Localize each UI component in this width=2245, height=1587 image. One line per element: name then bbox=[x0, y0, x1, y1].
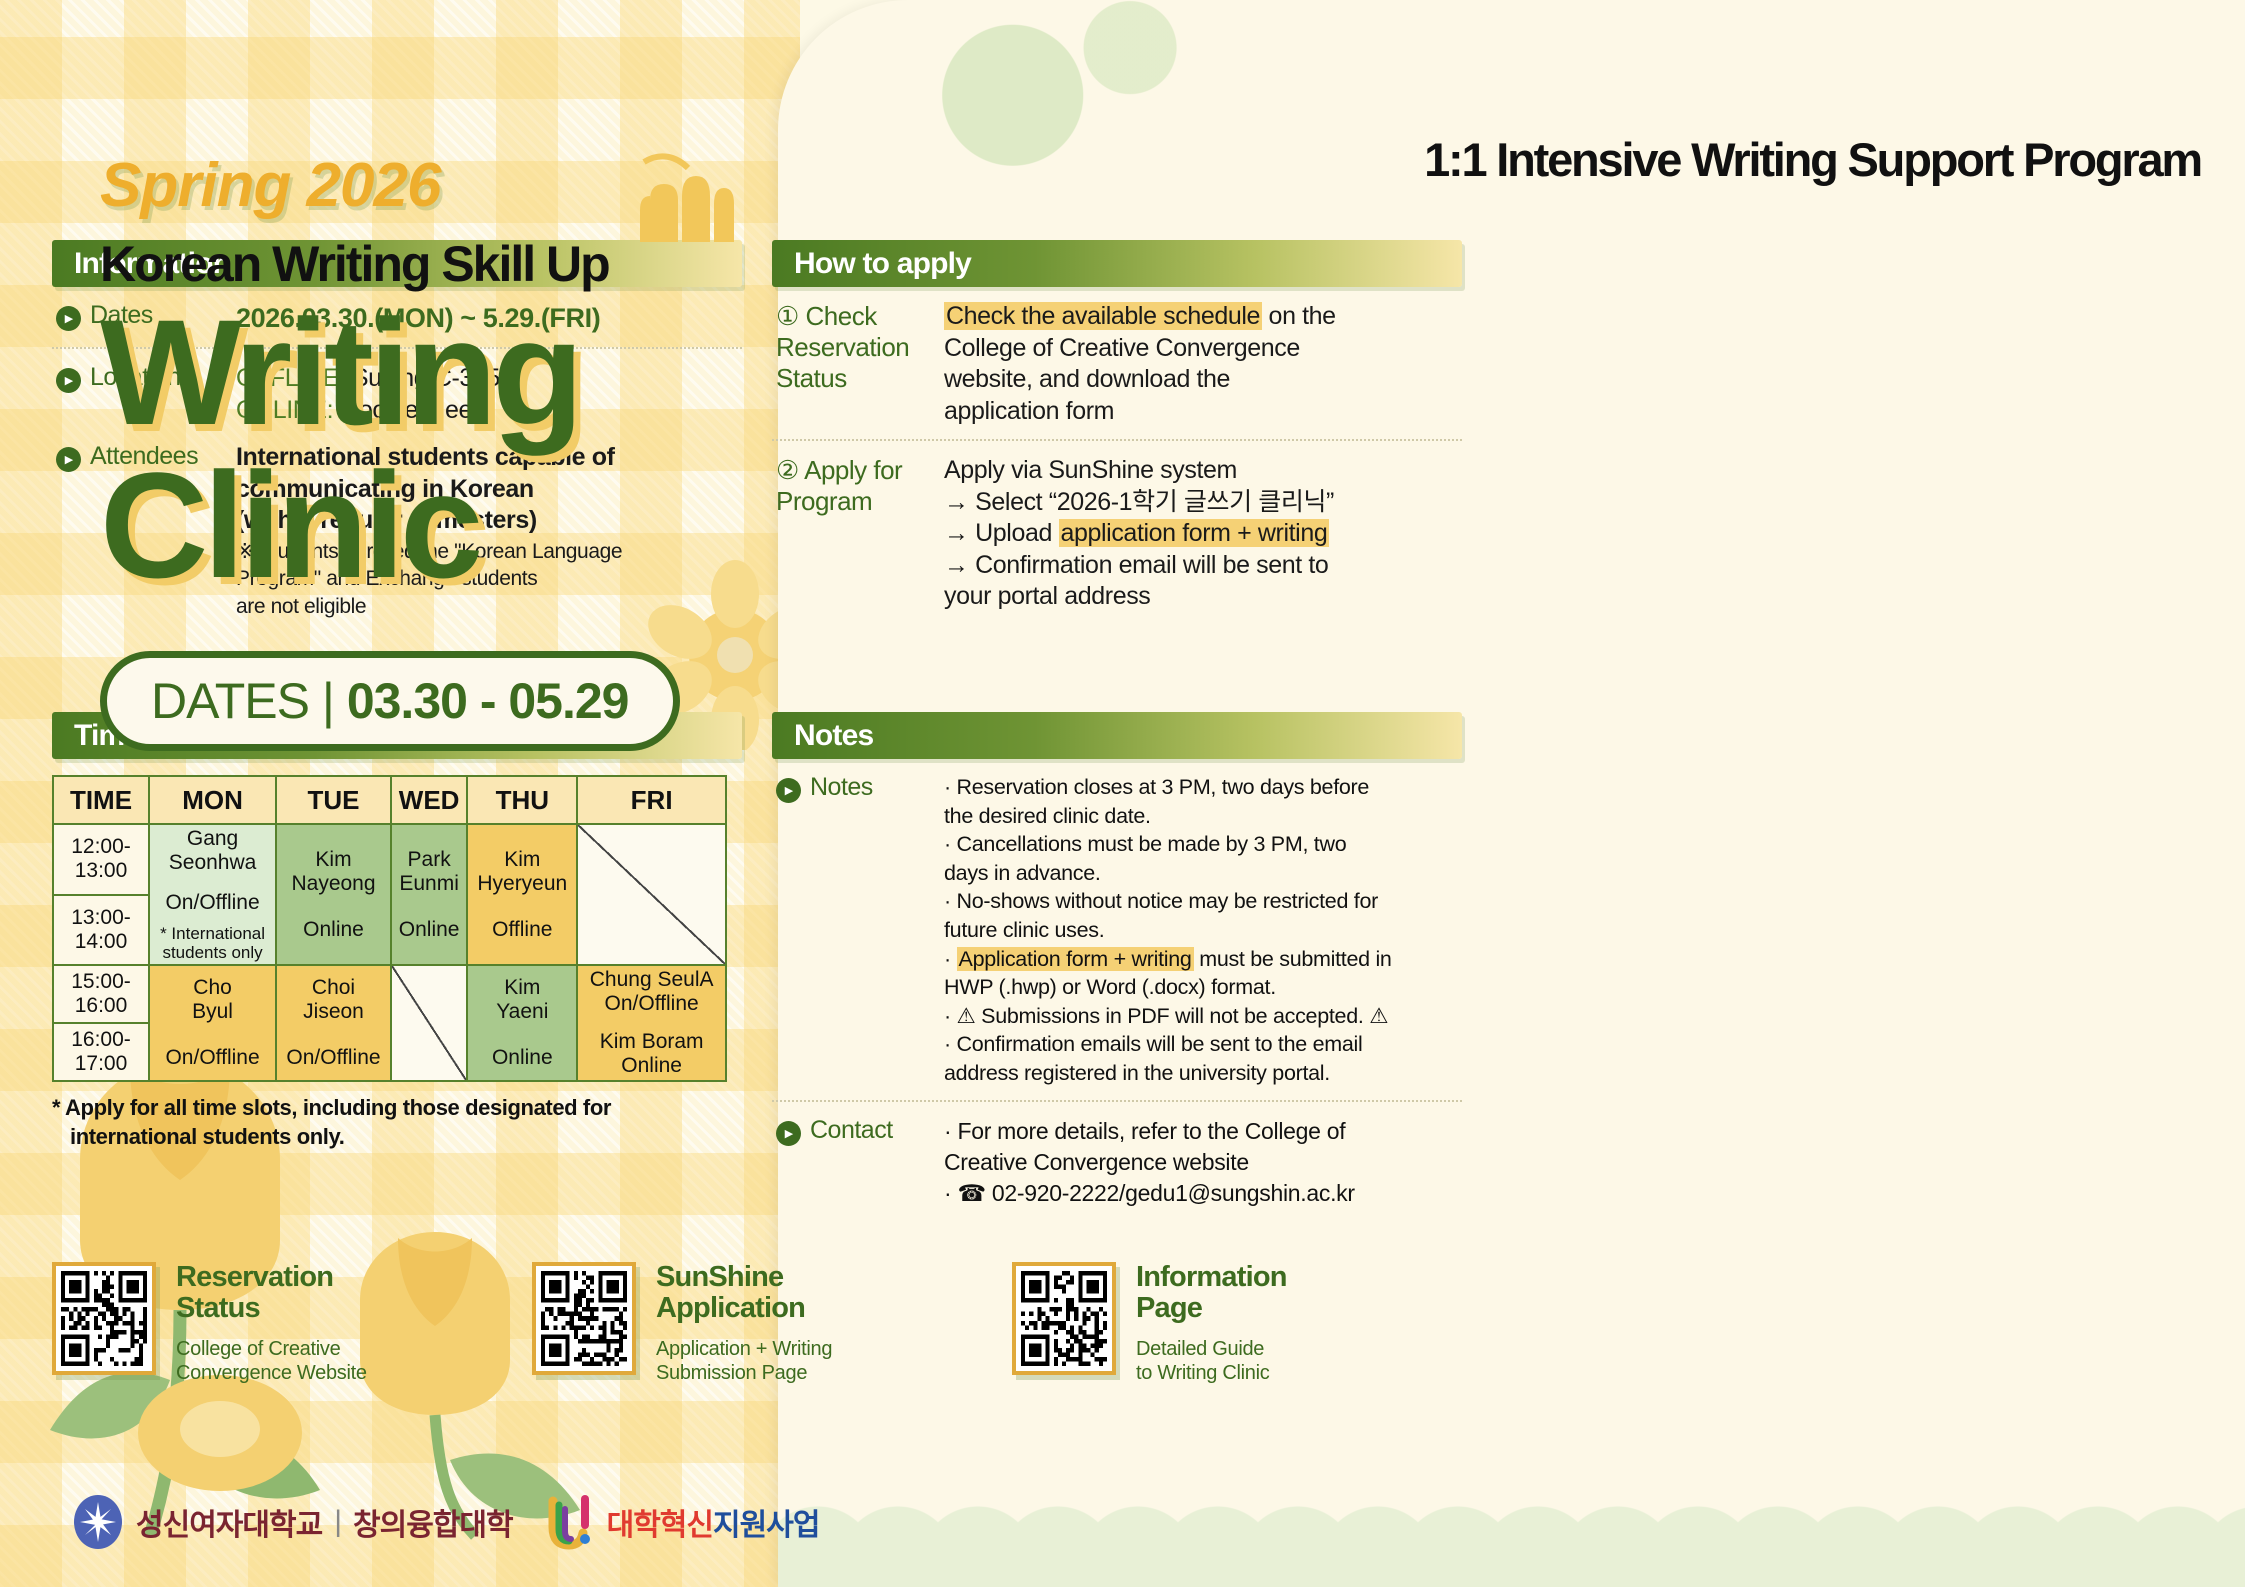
cell-fri-slot2-mode1: On/Offline bbox=[580, 992, 723, 1016]
cell-thu-slot2-mode: Online bbox=[470, 1046, 574, 1070]
apply-step-2-line2: → Select “2026-1학기 글쓰기 클리닉” bbox=[944, 487, 1334, 519]
apply-step-1-line4: application form bbox=[944, 396, 1336, 428]
note-item: future clinic uses. bbox=[944, 916, 1392, 945]
cell-thu-slot1-name2: Hyeryeun bbox=[470, 872, 574, 896]
cell-wed-slot2-empty bbox=[391, 965, 467, 1081]
logo-divider: | bbox=[334, 1505, 341, 1539]
cell-tue-slot2-name2: Jiseon bbox=[279, 1000, 388, 1024]
program-title: 1:1 Intensive Writing Support Program bbox=[1424, 132, 2201, 187]
cell-tue-slot1-mode: Online bbox=[279, 918, 388, 942]
notes-section-header: Notes bbox=[772, 712, 1462, 759]
timetable-footnote-line2: international students only. bbox=[52, 1123, 742, 1152]
table-row: 12:00-13:00 Gang Seonhwa On/Offline * In… bbox=[53, 824, 726, 895]
how-to-apply-heading: How to apply bbox=[794, 247, 971, 281]
timetable-footnote: * Apply for all time slots, including th… bbox=[52, 1094, 742, 1151]
qr-code-sunshine-application[interactable] bbox=[532, 1262, 636, 1375]
note-item: address registered in the university por… bbox=[944, 1059, 1392, 1088]
timetable-col-time: TIME bbox=[53, 776, 149, 824]
innovation-program-name: 대학혁신지원사업 bbox=[607, 1500, 820, 1544]
timeslot-1200-1300: 12:00-13:00 bbox=[53, 824, 149, 895]
timetable-header-row: TIME MON TUE WED THU FRI bbox=[53, 776, 726, 824]
poster-main-word-2: Clinic bbox=[100, 452, 780, 599]
chevron-right-icon: ▸ bbox=[56, 447, 81, 472]
timetable-table: TIME MON TUE WED THU FRI 12:00-13:00 Gan… bbox=[52, 775, 727, 1082]
qr-sub-line1: Application + Writing bbox=[656, 1337, 832, 1361]
innovation-name-part1: 대학혁신 bbox=[607, 1509, 713, 1542]
qr-title-line1: Reservation bbox=[176, 1262, 367, 1293]
note-item: · ⚠ Submissions in PDF will not be accep… bbox=[944, 1002, 1392, 1031]
sprout-icon bbox=[630, 150, 740, 245]
cell-fri-slot2-name1: Chung SeulA bbox=[580, 968, 723, 992]
timeslot-1300-1400: 13:00-14:00 bbox=[53, 895, 149, 966]
notes-label-text: Notes bbox=[810, 773, 873, 802]
cell-mon-slot1-mode: On/Offline bbox=[152, 891, 273, 915]
apply-step-1-label-line3: Status bbox=[776, 363, 909, 394]
dates-badge-label: DATES bbox=[151, 673, 309, 729]
notes-row: ▸ Notes · Reservation closes at 3 PM, tw… bbox=[772, 759, 1462, 1100]
notes-heading: Notes bbox=[794, 719, 873, 753]
apply-step-1: ① Check Reservation Status Check the ava… bbox=[772, 287, 1462, 439]
cell-tue-slot1: Kim Nayeong Online bbox=[276, 824, 391, 965]
scallop-decoration bbox=[778, 1469, 2245, 1587]
timeslot-1600-1700: 16:00-17:00 bbox=[53, 1023, 149, 1081]
sungshin-emblem-icon bbox=[72, 1494, 124, 1550]
cell-wed-slot1-name1: Park bbox=[394, 848, 464, 872]
cell-fri-slot2: Chung SeulA On/Offline Kim Boram Online bbox=[577, 965, 726, 1081]
cell-mon-slot1-name1: Gang bbox=[152, 827, 273, 851]
qr-sub-line2: Submission Page bbox=[656, 1361, 832, 1385]
note-item: · Reservation closes at 3 PM, two days b… bbox=[944, 773, 1392, 802]
timetable-col-mon: MON bbox=[149, 776, 276, 824]
chevron-right-icon: ▸ bbox=[776, 778, 801, 803]
university-name: 성신여자대학교 bbox=[136, 1500, 322, 1544]
chevron-right-icon: ▸ bbox=[56, 306, 81, 331]
apply-step-1-highlight: Check the available schedule bbox=[944, 302, 1262, 330]
qr-title-line2: Status bbox=[176, 1293, 367, 1324]
apply-step-2-line5: your portal address bbox=[944, 581, 1334, 613]
university-innovation-icon bbox=[547, 1493, 595, 1551]
contact-item: · For more details, refer to the College… bbox=[944, 1116, 1355, 1147]
apply-step-1-rest: on the bbox=[1262, 302, 1336, 330]
apply-step-2: ② Apply for Program Apply via SunShine s… bbox=[772, 439, 1462, 625]
cell-mon-slot1: Gang Seonhwa On/Offline * International … bbox=[149, 824, 276, 965]
cell-mon-slot2: Cho Byul On/Offline bbox=[149, 965, 276, 1081]
cell-mon-slot1-note2: students only bbox=[152, 944, 273, 963]
qr-sub-line1: College of Creative bbox=[176, 1337, 367, 1361]
note-item: days in advance. bbox=[944, 859, 1392, 888]
apply-step-1-value: Check the available schedule on the Coll… bbox=[944, 301, 1336, 427]
qr-item-information-page[interactable]: Information Page Detailed Guide to Writi… bbox=[1012, 1262, 1432, 1385]
note-hl-text: Application form + writing bbox=[957, 947, 1194, 971]
qr-code-information-page[interactable] bbox=[1012, 1262, 1116, 1375]
cell-mon-slot2-name2: Byul bbox=[152, 1000, 273, 1024]
notes-section: Notes ▸ Notes · Reservation closes at 3 … bbox=[772, 712, 1462, 1221]
cell-mon-slot1-name2: Seonhwa bbox=[152, 851, 273, 875]
cell-thu-slot1: Kim Hyeryeun Offline bbox=[467, 824, 577, 965]
cell-mon-slot2-name1: Cho bbox=[152, 976, 273, 1000]
qr-item-sunshine-application[interactable]: SunShine Application Application + Writi… bbox=[532, 1262, 952, 1385]
contact-item: Creative Convergence website bbox=[944, 1147, 1355, 1178]
note-item: · Cancellations must be made by 3 PM, tw… bbox=[944, 830, 1392, 859]
innovation-program-logo-group: 대학혁신지원사업 bbox=[547, 1493, 820, 1551]
cell-wed-slot1: Park Eunmi Online bbox=[391, 824, 467, 965]
innovation-name-part2: 지원사업 bbox=[713, 1509, 819, 1542]
apply-step-1-label-line1: ① Check bbox=[776, 301, 909, 332]
qr-code-reservation-status[interactable] bbox=[52, 1262, 156, 1375]
qr-sub-line2: Convergence Website bbox=[176, 1361, 367, 1385]
qr-code-row: Reservation Status College of Creative C… bbox=[52, 1262, 1432, 1385]
cell-tue-slot1-name2: Nayeong bbox=[279, 872, 388, 896]
apply-step-1-label: ① Check Reservation Status bbox=[776, 301, 944, 427]
apply-step-2-value: Apply via SunShine system → Select “2026… bbox=[944, 455, 1334, 613]
cell-wed-slot1-name2: Eunmi bbox=[394, 872, 464, 896]
note-item: · No-shows without notice may be restric… bbox=[944, 887, 1392, 916]
qr-title-line2: Page bbox=[1136, 1293, 1287, 1324]
note-item-highlighted: · Application form + writing must be sub… bbox=[944, 945, 1392, 974]
cell-thu-slot1-name1: Kim bbox=[470, 848, 574, 872]
note-item: HWP (.hwp) or Word (.docx) format. bbox=[944, 973, 1392, 1002]
cell-tue-slot2-mode: On/Offline bbox=[279, 1046, 388, 1070]
timetable-col-thu: THU bbox=[467, 776, 577, 824]
qr-title-line1: SunShine bbox=[656, 1262, 832, 1293]
note-item: · Confirmation emails will be sent to th… bbox=[944, 1030, 1392, 1059]
dates-badge-value: 03.30 - 05.29 bbox=[347, 673, 629, 729]
qr-title-line1: Information bbox=[1136, 1262, 1287, 1293]
chevron-right-icon: ▸ bbox=[776, 1121, 801, 1146]
timetable-section: Timetable TIME MON TUE WED THU FRI 12:00… bbox=[52, 712, 742, 1152]
table-row: 15:00-16:00 Cho Byul On/Offline Choi Jis… bbox=[53, 965, 726, 1023]
timetable-col-tue: TUE bbox=[276, 776, 391, 824]
dates-badge-separator: | bbox=[322, 673, 334, 729]
college-name: 창의융합대학 bbox=[353, 1500, 513, 1544]
cell-thu-slot2-name2: Yaeni bbox=[470, 1000, 574, 1024]
how-to-apply-section: How to apply ① Check Reservation Status … bbox=[772, 240, 1462, 625]
chevron-right-icon: ▸ bbox=[56, 368, 81, 393]
cell-fri-slot2-mode2: Online bbox=[580, 1054, 723, 1078]
timetable-col-wed: WED bbox=[391, 776, 467, 824]
cell-thu-slot2-name1: Kim bbox=[470, 976, 574, 1000]
contact-item: · ☎ 02-920-2222/gedu1@sungshin.ac.kr bbox=[944, 1178, 1355, 1209]
dates-badge: DATES | 03.30 - 05.29 bbox=[100, 651, 680, 751]
timetable-col-fri: FRI bbox=[577, 776, 726, 824]
notes-content: · Reservation closes at 3 PM, two days b… bbox=[944, 773, 1392, 1088]
apply-step-2-line4: → Confirmation email will be sent to bbox=[944, 550, 1334, 582]
contact-label-text: Contact bbox=[810, 1116, 893, 1145]
poster-main-word-1: Writing bbox=[100, 299, 780, 446]
note-hl-pre: · bbox=[944, 947, 957, 971]
qr-item-reservation-status[interactable]: Reservation Status College of Creative C… bbox=[52, 1262, 472, 1385]
cell-tue-slot1-name1: Kim bbox=[279, 848, 388, 872]
apply-step-1-label-line2: Reservation bbox=[776, 332, 909, 363]
apply-step-2-label-line1: ② Apply for bbox=[776, 455, 902, 486]
cell-thu-slot2: Kim Yaeni Online bbox=[467, 965, 577, 1081]
timeslot-1500-1600: 15:00-16:00 bbox=[53, 965, 149, 1023]
contact-row: ▸ Contact · For more details, refer to t… bbox=[772, 1100, 1462, 1221]
cell-mon-slot1-note1: * International bbox=[152, 925, 273, 944]
cell-wed-slot1-mode: Online bbox=[394, 918, 464, 942]
qr-title-line2: Application bbox=[656, 1293, 832, 1324]
cell-tue-slot2-name1: Choi bbox=[279, 976, 388, 1000]
footer-logos: 성신여자대학교 | 창의융합대학 대학혁신지원사업 bbox=[72, 1493, 819, 1551]
qr-sub-line1: Detailed Guide bbox=[1136, 1337, 1287, 1361]
apply-step-2-line1: Apply via SunShine system bbox=[944, 455, 1334, 487]
apply-step-2-line3-pre: → Upload bbox=[944, 519, 1059, 547]
apply-step-1-line2: College of Creative Convergence bbox=[944, 333, 1336, 365]
apply-step-2-label-line2: Program bbox=[776, 486, 902, 517]
how-to-apply-section-header: How to apply bbox=[772, 240, 1462, 287]
note-hl-post: must be submitted in bbox=[1194, 947, 1392, 971]
cell-mon-slot2-mode: On/Offline bbox=[152, 1046, 273, 1070]
apply-step-1-line3: website, and download the bbox=[944, 364, 1336, 396]
apply-step-2-label: ② Apply for Program bbox=[776, 455, 944, 613]
apply-step-2-line3-highlight: application form + writing bbox=[1059, 519, 1330, 547]
cell-tue-slot2: Choi Jiseon On/Offline bbox=[276, 965, 391, 1081]
cell-fri-slot2-name2: Kim Boram bbox=[580, 1030, 723, 1054]
contact-label: ▸ Contact bbox=[776, 1116, 944, 1209]
cell-thu-slot1-mode: Offline bbox=[470, 918, 574, 942]
note-item: the desired clinic date. bbox=[944, 802, 1392, 831]
contact-content: · For more details, refer to the College… bbox=[944, 1116, 1355, 1209]
university-logo-group: 성신여자대학교 | 창의융합대학 bbox=[72, 1494, 513, 1550]
timetable-footnote-line1: * Apply for all time slots, including th… bbox=[52, 1095, 611, 1120]
qr-sub-line2: to Writing Clinic bbox=[1136, 1361, 1287, 1385]
cell-fri-slot1-empty bbox=[577, 824, 726, 965]
notes-label: ▸ Notes bbox=[776, 773, 944, 1088]
